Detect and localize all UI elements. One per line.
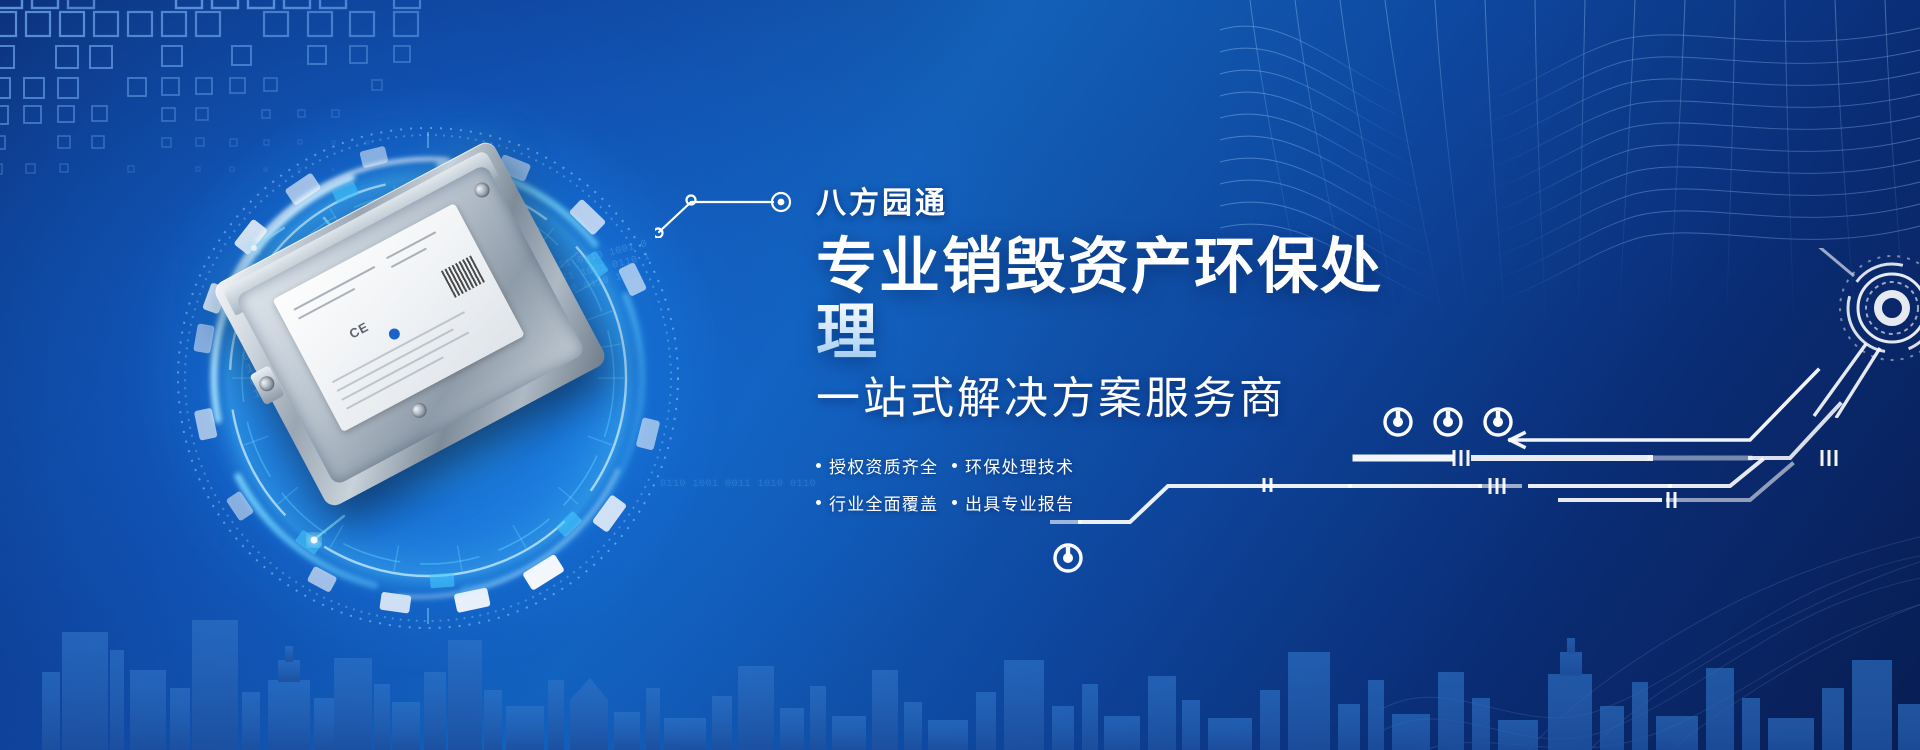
feature-label: 出具专业报告 bbox=[965, 490, 1074, 515]
feature-item-3: 行业全面覆盖 bbox=[816, 490, 952, 515]
feature-label: 行业全面覆盖 bbox=[829, 490, 938, 515]
feature-label: 授权资质齐全 bbox=[829, 453, 938, 478]
brand-name: 八方园通 bbox=[816, 186, 1436, 222]
bullet-icon bbox=[952, 500, 957, 505]
feature-item-1: 授权资质齐全 bbox=[816, 453, 952, 478]
headline: 专业销毁资产环保处理 bbox=[816, 234, 1436, 366]
callout-pointer-line bbox=[655, 178, 815, 238]
banner-copy-block: 八方园通 专业销毁资产环保处理 一站式解决方案服务商 授权资质齐全 环保处理技术… bbox=[816, 186, 1436, 515]
hdd-barcode bbox=[441, 255, 485, 297]
feature-item-4: 出具专业报告 bbox=[952, 490, 1088, 515]
bullet-icon bbox=[816, 463, 821, 468]
bullet-icon bbox=[816, 500, 821, 505]
hdd-blue-dot bbox=[387, 327, 402, 342]
feature-list: 授权资质齐全 环保处理技术 行业全面覆盖 出具专业报告 bbox=[816, 453, 1116, 515]
subheadline: 一站式解决方案服务商 bbox=[816, 374, 1436, 423]
promo-banner: 0010 1001 1001 1011 0011 0101 0110 1111 … bbox=[0, 0, 1920, 750]
city-skyline-silhouette bbox=[0, 520, 1920, 750]
hdd-ce-mark: CE bbox=[347, 319, 372, 342]
binary-text-decoration-3: 0110 1001 0011 1010 0110 bbox=[660, 478, 816, 491]
feature-item-2: 环保处理技术 bbox=[952, 453, 1088, 478]
feature-label: 环保处理技术 bbox=[965, 453, 1074, 478]
circular-gear-decoration bbox=[1796, 248, 1920, 418]
bullet-icon bbox=[952, 463, 957, 468]
